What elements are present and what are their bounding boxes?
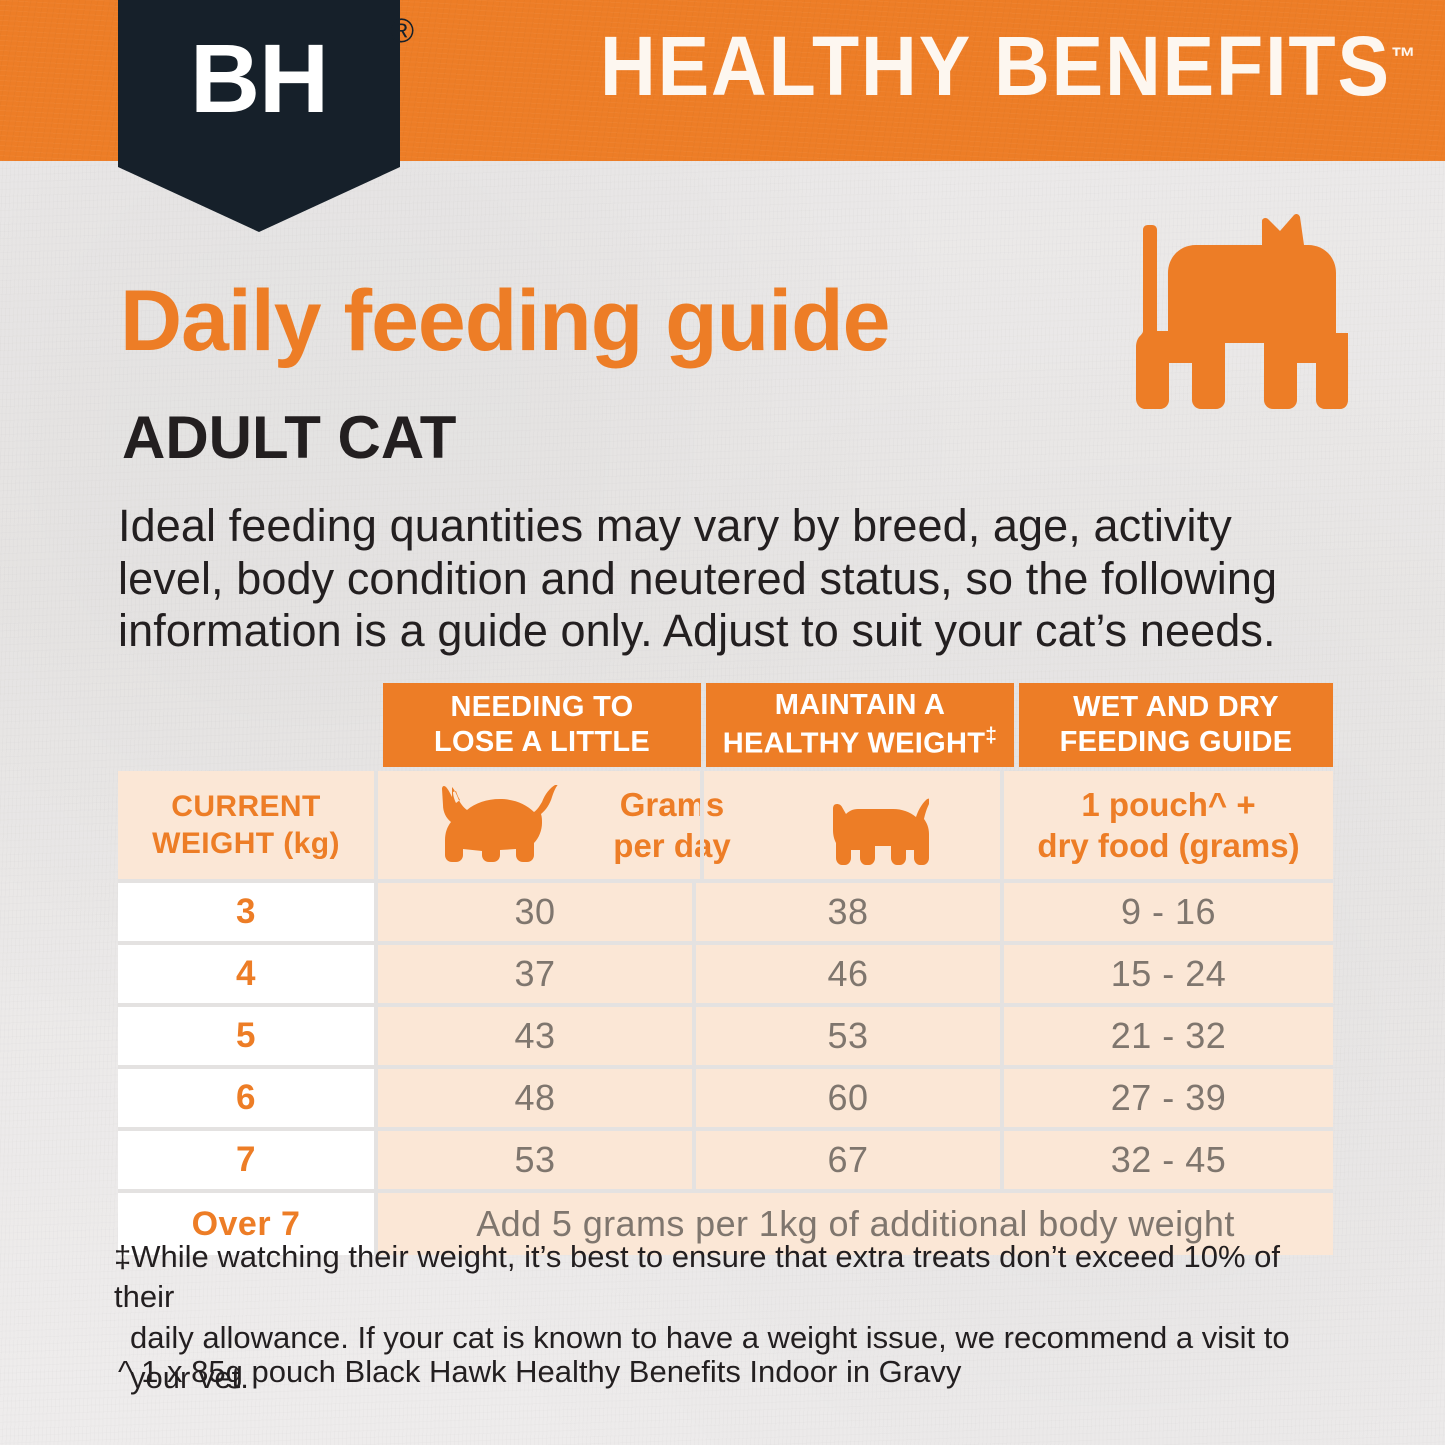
table-row: 5 43 53 21 - 32 <box>118 1007 1333 1069</box>
cell-wet-and-dry: 9 - 16 <box>1004 883 1333 941</box>
table-row: 4 37 46 15 - 24 <box>118 945 1333 1007</box>
column-header-current-weight: CURRENT WEIGHT (kg) <box>118 771 378 879</box>
page-title: Daily feeding guide <box>120 278 889 364</box>
cat-slim-icon <box>833 784 929 866</box>
brand-shield: BH <box>118 0 400 232</box>
table-group-header-row: NEEDING TO LOSE A LITTLE MAINTAIN A HEAL… <box>118 683 1333 767</box>
group-header-maintain-line1: MAINTAIN A <box>775 689 946 721</box>
cell-current-weight: 4 <box>118 945 378 1003</box>
current-weight-line1: CURRENT <box>171 790 320 823</box>
cell-wet-and-dry: 15 - 24 <box>1004 945 1333 1003</box>
group-header-needing-to-lose: NEEDING TO LOSE A LITTLE <box>383 683 701 767</box>
feeding-guide-page: HEALTHY BENEFITS™ BH ® Daily feeding gui… <box>0 0 1445 1445</box>
cell-maintain-weight: 46 <box>696 945 1004 1003</box>
grams-line1: Grams <box>620 786 725 823</box>
cell-wet-and-dry: 27 - 39 <box>1004 1069 1333 1127</box>
cell-needing-to-lose: 30 <box>378 883 696 941</box>
column-header-wet-dry-amounts: 1 pouch^ + dry food (grams) <box>1004 771 1333 879</box>
group-header-lose-line1: NEEDING TO <box>451 691 634 723</box>
intro-paragraph: Ideal feeding quantities may vary by bre… <box>118 500 1333 658</box>
registered-mark-icon: ® <box>389 12 414 51</box>
footnote1-line1: ‡While watching their weight, it’s best … <box>114 1239 1280 1314</box>
wetdry-line2: dry food (grams) <box>1037 827 1299 864</box>
cell-needing-to-lose: 43 <box>378 1007 696 1065</box>
cell-wet-and-dry: 21 - 32 <box>1004 1007 1333 1065</box>
group-header-maintain-line2: HEALTHY WEIGHT <box>723 728 986 760</box>
cell-maintain-weight: 67 <box>696 1131 1004 1189</box>
page-subtitle: ADULT CAT <box>122 408 456 468</box>
cell-current-weight: 7 <box>118 1131 378 1189</box>
brand-name: HEALTHY BENEFITS™ <box>600 24 1299 108</box>
grams-column-divider <box>700 771 704 879</box>
group-header-wet-and-dry: WET AND DRY FEEDING GUIDE <box>1019 683 1333 767</box>
cell-maintain-weight: 53 <box>696 1007 1004 1065</box>
table-row: 3 30 38 9 - 16 <box>118 883 1333 945</box>
cell-current-weight: 6 <box>118 1069 378 1127</box>
group-header-maintain-healthy-weight: MAINTAIN A HEALTHY WEIGHT‡ <box>706 683 1014 767</box>
cell-needing-to-lose: 37 <box>378 945 696 1003</box>
wetdry-line1: 1 pouch^ + <box>1081 786 1255 823</box>
feeding-table: NEEDING TO LOSE A LITTLE MAINTAIN A HEAL… <box>118 683 1333 1255</box>
cell-maintain-weight: 38 <box>696 883 1004 941</box>
table-row: 7 53 67 32 - 45 <box>118 1131 1333 1193</box>
column-header-grams-per-day: Grams per day <box>378 771 1004 879</box>
cat-chubby-icon <box>442 785 558 865</box>
group-header-spacer <box>118 683 378 767</box>
cell-wet-and-dry: 32 - 45 <box>1004 1131 1333 1189</box>
slim-cat-icon-wrap <box>806 784 956 866</box>
cell-maintain-weight: 60 <box>696 1069 1004 1127</box>
brand-logo-text: BH <box>118 30 400 127</box>
grams-line2: per day <box>613 827 730 864</box>
table-row: 6 48 60 27 - 39 <box>118 1069 1333 1131</box>
cat-standing-icon <box>1136 213 1348 475</box>
cell-current-weight: 5 <box>118 1007 378 1065</box>
cell-needing-to-lose: 53 <box>378 1131 696 1189</box>
footnote-pouch: ^ 1 x 85g pouch Black Hawk Healthy Benef… <box>118 1352 961 1392</box>
chubby-cat-icon-wrap <box>414 785 586 865</box>
cell-needing-to-lose: 48 <box>378 1069 696 1127</box>
double-dagger-marker: ‡ <box>985 724 997 747</box>
group-header-lose-line2: LOSE A LITTLE <box>434 726 650 758</box>
group-header-wetdry-line1: WET AND DRY <box>1073 691 1279 723</box>
group-header-wetdry-line2: FEEDING GUIDE <box>1060 726 1293 758</box>
grams-per-day-label: Grams per day <box>590 784 754 867</box>
current-weight-line2: WEIGHT (kg) <box>152 827 340 860</box>
trademark-symbol: ™ <box>1391 42 1416 72</box>
table-unit-row: CURRENT WEIGHT (kg) Grams per day <box>118 771 1333 883</box>
brand-name-text: HEALTHY BENEFITS <box>600 19 1391 113</box>
cell-current-weight: 3 <box>118 883 378 941</box>
